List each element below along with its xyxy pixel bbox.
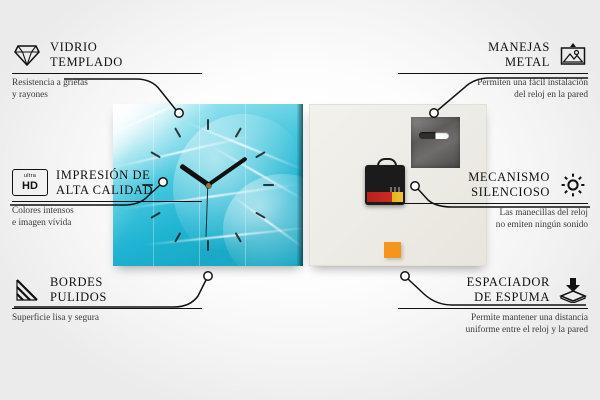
feature-espaciador-de-espuma[interactable]: ESPACIADOR DE ESPUMA Permite mantener un…: [398, 275, 588, 337]
hour-marker: [174, 232, 181, 243]
hour-marker: [235, 232, 242, 243]
feature-description: Colores intensos e imagen vívida: [12, 205, 202, 230]
feature-header: BORDES PULIDOS: [12, 275, 202, 305]
feature-desc-line1: Superficie lisa y segura: [12, 313, 99, 323]
ultra-hd-icon-main-text: HD: [22, 181, 38, 192]
panel-edge-shadow: [297, 104, 303, 266]
hour-marker: [150, 151, 161, 158]
wire-endpoint-bordes-pulidos: [204, 272, 212, 280]
feature-desc-line2: no emiten ningún sonido: [496, 220, 588, 230]
feature-title-line2: SILENCIOSO: [471, 185, 550, 199]
framed-picture-icon: [558, 42, 588, 68]
feature-description: Permite mantener una distancia uniforme …: [398, 312, 588, 337]
feature-header: MANEJAS METAL: [398, 40, 588, 70]
feature-title-line1: IMPRESIÓN DE: [56, 168, 150, 182]
hour-marker: [263, 184, 274, 186]
feature-desc-line2: e imagen vívida: [12, 218, 71, 228]
hour-marker: [235, 127, 242, 138]
feature-title-line1: MANEJAS: [488, 40, 550, 54]
feature-desc-line1: Las manecillas del reloj: [499, 208, 588, 218]
feature-title: ESPACIADOR DE ESPUMA: [467, 275, 550, 305]
feature-title-line2: DE ESPUMA: [474, 290, 550, 304]
feature-bordes-pulidos[interactable]: BORDES PULIDOS Superficie lisa y segura: [12, 275, 202, 324]
metal-hanger-plate: [411, 117, 460, 168]
feature-title-line1: BORDES: [50, 275, 103, 289]
feature-title: BORDES PULIDOS: [50, 275, 107, 305]
feature-desc-line2: uniforme entre el reloj y la pared: [466, 325, 588, 335]
ultra-hd-icon-top-text: ultra: [24, 174, 36, 180]
feature-desc-line2: del reloj en la pared: [514, 90, 588, 100]
feature-desc-line2: y rayones: [12, 90, 48, 100]
feature-desc-line1: Colores intensos: [12, 206, 74, 216]
feature-divider: [12, 308, 202, 309]
feature-divider: [12, 73, 202, 74]
feature-divider: [398, 203, 588, 204]
feature-header: VIDRIO TEMPLADO: [12, 40, 202, 70]
feature-vidrio-templado[interactable]: VIDRIO TEMPLADO Resistencia a grietas y …: [12, 40, 202, 102]
hanger-slot: [419, 132, 449, 139]
movement-hanger-loop: [377, 158, 397, 170]
feature-title-line2: PULIDOS: [50, 290, 107, 304]
foam-spacer: [384, 242, 401, 258]
feature-manejas-metal[interactable]: MANEJAS METAL Permiten una fácil instala…: [398, 40, 588, 102]
ultra-hd-icon: ultra HD: [12, 170, 48, 196]
feature-title-line1: ESPACIADOR: [467, 275, 550, 289]
hour-marker: [255, 212, 266, 219]
feature-title-line2: METAL: [505, 55, 550, 69]
feature-impresion-alta-calidad[interactable]: ultra HD IMPRESIÓN DE ALTA CALIDAD Color…: [12, 168, 202, 230]
feature-divider: [398, 308, 588, 309]
feature-title: MECANISMO SILENCIOSO: [468, 170, 550, 200]
arrow-onto-pad-icon: [558, 277, 588, 303]
feature-header: MECANISMO SILENCIOSO: [398, 170, 588, 200]
feature-title-line2: TEMPLADO: [50, 55, 123, 69]
feature-mecanismo-silencioso[interactable]: MECANISMO SILENCIOSO Las manecillas del …: [398, 170, 588, 232]
feature-title: MANEJAS METAL: [488, 40, 550, 70]
hour-marker: [174, 127, 181, 138]
hour-marker: [207, 119, 209, 130]
diamond-icon: [12, 42, 42, 68]
feature-header: ESPACIADOR DE ESPUMA: [398, 275, 588, 305]
hour-marker: [255, 151, 266, 158]
feature-description: Resistencia a grietas y rayones: [12, 77, 202, 102]
infographic-canvas: VIDRIO TEMPLADO Resistencia a grietas y …: [0, 0, 600, 400]
feature-title-line1: VIDRIO: [50, 40, 97, 54]
hour-marker: [207, 240, 209, 251]
feature-description: Superficie lisa y segura: [12, 312, 202, 325]
feature-description: Permiten una fácil instalación del reloj…: [398, 77, 588, 102]
feature-title: IMPRESIÓN DE ALTA CALIDAD: [56, 168, 153, 198]
feature-header: ultra HD IMPRESIÓN DE ALTA CALIDAD: [12, 168, 202, 198]
feature-divider: [12, 201, 202, 202]
feature-title-line2: ALTA CALIDAD: [56, 183, 153, 197]
feature-title-line1: MECANISMO: [468, 170, 550, 184]
feature-divider: [398, 73, 588, 74]
gear-icon: [558, 172, 588, 198]
feature-description: Las manecillas del reloj no emiten ningú…: [398, 207, 588, 232]
clock-center-hub: [206, 183, 211, 188]
feature-desc-line1: Permiten una fácil instalación: [477, 78, 588, 88]
feature-title: VIDRIO TEMPLADO: [50, 40, 123, 70]
diagonal-stripes-icon: [12, 277, 42, 303]
feature-desc-line1: Resistencia a grietas: [12, 78, 88, 88]
feature-desc-line1: Permite mantener una distancia: [471, 313, 588, 323]
